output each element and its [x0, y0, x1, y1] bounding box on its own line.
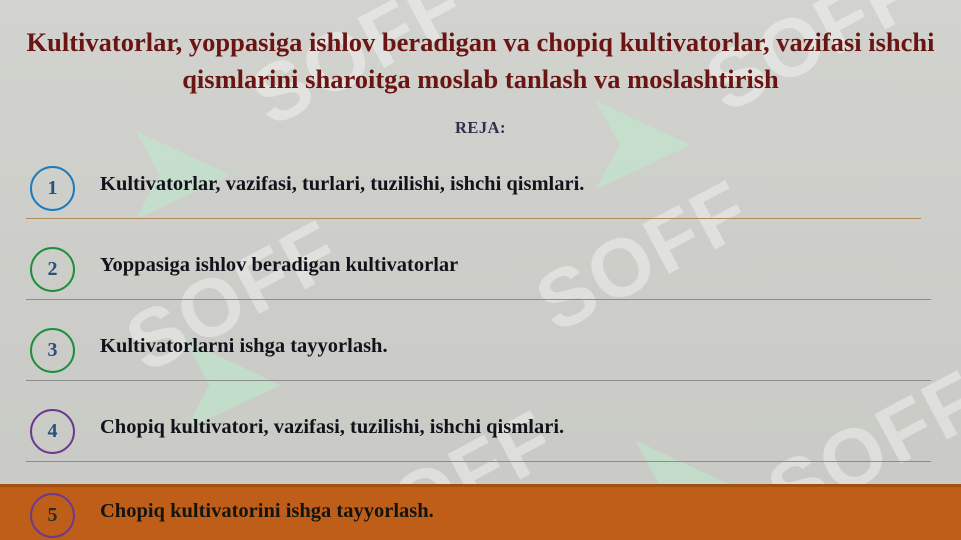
item-number-badge: 1 [30, 166, 75, 211]
list-item: 4 Chopiq kultivatori, vazifasi, tuzilish… [0, 399, 961, 480]
item-number-badge: 5 [30, 493, 75, 538]
item-number-badge: 4 [30, 409, 75, 454]
slide: SOFF SOFF SOFF SOFF SOFF SOFF ➤ ➤ ➤ ➤ Ku… [0, 0, 961, 540]
list-item: 1 Kultivatorlar, vazifasi, turlari, tuzi… [0, 156, 961, 237]
list-item: 3 Kultivatorlarni ishga tayyorlash. [0, 318, 961, 399]
item-text: Yoppasiga ishlov beradigan kultivatorlar [100, 253, 931, 278]
divider [26, 218, 921, 219]
item-number-badge: 3 [30, 328, 75, 373]
divider [26, 299, 931, 300]
agenda-list: 1 Kultivatorlar, vazifasi, turlari, tuzi… [0, 156, 961, 480]
divider [26, 461, 931, 462]
list-item: 2 Yoppasiga ishlov beradigan kultivatorl… [0, 237, 961, 318]
item-text: Chopiq kultivatorini ishga tayyorlash. [100, 499, 931, 524]
page-title: Kultivatorlar, yoppasiga ishlov beradiga… [22, 24, 939, 97]
item-text: Kultivatorlarni ishga tayyorlash. [100, 334, 931, 359]
divider [26, 380, 931, 381]
item-number-badge: 2 [30, 247, 75, 292]
item-text: Chopiq kultivatori, vazifasi, tuzilishi,… [100, 415, 931, 440]
list-item: 5 Chopiq kultivatorini ishga tayyorlash. [0, 484, 961, 540]
agenda-heading: REJA: [0, 118, 961, 138]
item-text: Kultivatorlar, vazifasi, turlari, tuzili… [100, 172, 931, 197]
